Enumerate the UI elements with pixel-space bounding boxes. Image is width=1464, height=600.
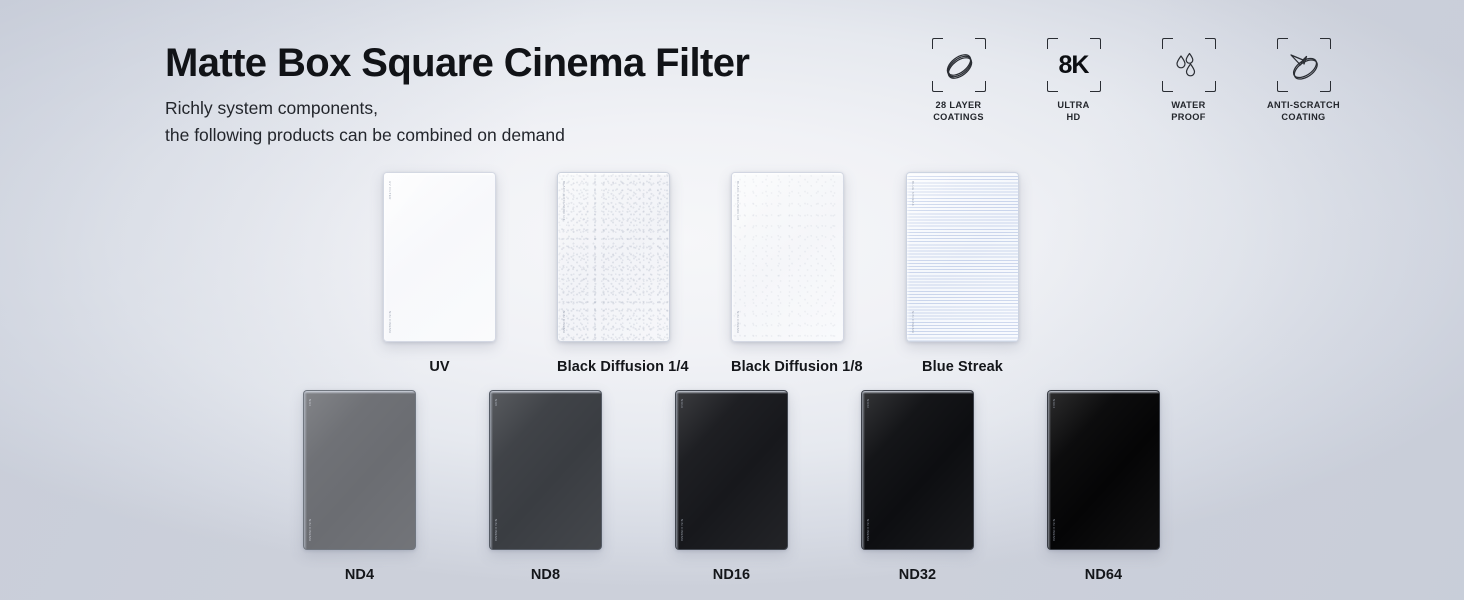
filter-label-nd16: ND16 (675, 567, 788, 583)
corner-bracket-top-right (1320, 38, 1331, 49)
badge-frame: 8K (1047, 38, 1101, 92)
filter-glass-nd4[interactable]: ND4 NiSi CINEMA (303, 390, 416, 550)
label-line-2: PROOF (1171, 112, 1205, 122)
corner-bracket-top-left (1277, 38, 1288, 49)
filter-edge-text-top: UV FILTER (388, 181, 392, 200)
filter-edge-text-bottom: NiSi CINEMA (388, 311, 392, 333)
corner-bracket-bottom-left (1277, 81, 1288, 92)
filter-glass-blue-streak[interactable]: BLUE STREAK NiSi CINEMA (906, 172, 1019, 342)
glass-sheen (490, 391, 601, 549)
clear-filter-row: UV FILTER NiSi CINEMA UV BLACK DIFFUSION… (0, 172, 1464, 372)
filter-glass-nd64[interactable]: ND64 NiSi CINEMA (1047, 390, 1160, 550)
nd-filter-row: ND4 NiSi CINEMA ND4 ND8 NiSi CINEMA ND8 … (0, 390, 1464, 590)
8k-text-icon: 8K (1059, 51, 1089, 80)
filter-edge-text-bottom: NiSi CINEMA (308, 519, 312, 541)
filter-edge-text-top: BLUE STREAK (911, 181, 915, 206)
feature-badge-anti-scratch-coating: ANTI-SCRATCH COATING (1261, 38, 1346, 123)
filter-label-black-diffusion-1-4: Black Diffusion 1/4 (557, 359, 670, 375)
filter-edge-text-bottom: NiSi CINEMA (562, 311, 566, 333)
filter-glass-uv[interactable]: UV FILTER NiSi CINEMA (383, 172, 496, 342)
corner-bracket-bottom-left (932, 81, 943, 92)
corner-bracket-bottom-right (1320, 81, 1331, 92)
glass-top-bevel (558, 173, 669, 176)
glass-top-bevel (907, 173, 1018, 176)
corner-bracket-bottom-left (1162, 81, 1173, 92)
banner-background: Matte Box Square Cinema Filter Richly sy… (0, 0, 1464, 600)
corner-bracket-bottom-right (1205, 81, 1216, 92)
badge-frame (932, 38, 986, 92)
feature-badge-list: 28 LAYER COATINGS 8K ULTRA HD (916, 38, 1346, 123)
glass-top-bevel (676, 391, 787, 394)
filter-card-nd8[interactable]: ND8 NiSi CINEMA ND8 (489, 390, 602, 550)
filter-edge-text-top: ND32 (866, 399, 870, 408)
filter-glass-nd32[interactable]: ND32 NiSi CINEMA (861, 390, 974, 550)
corner-bracket-top-left (1162, 38, 1173, 49)
label-line-2: COATING (1281, 112, 1325, 122)
glass-sheen (304, 391, 415, 549)
glass-left-bevel (732, 173, 735, 341)
corner-bracket-bottom-left (1047, 81, 1058, 92)
glass-sheen (384, 173, 495, 341)
diffusion-texture (732, 173, 843, 341)
filter-card-nd32[interactable]: ND32 NiSi CINEMA ND32 (861, 390, 974, 550)
glass-left-bevel (862, 391, 865, 549)
water-droplets-icon (1170, 46, 1208, 84)
corner-bracket-top-right (1090, 38, 1101, 49)
filter-label-nd4: ND4 (303, 567, 416, 583)
label-line-1: ANTI-SCRATCH (1267, 100, 1340, 110)
corner-bracket-bottom-right (975, 81, 986, 92)
glass-left-bevel (384, 173, 387, 341)
subtitle-line-1: Richly system components, (165, 95, 749, 122)
filter-edge-text-bottom: NiSi CINEMA (680, 519, 684, 541)
filter-edge-text-top: BLACK DIFFUSION 1/4 (562, 181, 566, 221)
filter-glass-nd16[interactable]: ND16 NiSi CINEMA (675, 390, 788, 550)
corner-bracket-top-right (1205, 38, 1216, 49)
subtitle-block: Richly system components, the following … (165, 95, 749, 148)
corner-bracket-top-right (975, 38, 986, 49)
badge-frame (1277, 38, 1331, 92)
glass-top-bevel (1048, 391, 1159, 394)
feature-badge-water-proof: WATER PROOF (1146, 38, 1231, 123)
filter-edge-text-bottom: NiSi CINEMA (736, 311, 740, 333)
glass-sheen (1048, 391, 1159, 549)
filter-edge-text-top: BLACK DIFFUSION 1/8 (736, 181, 740, 221)
glass-left-bevel (304, 391, 307, 549)
feature-badge-label: WATER PROOF (1171, 99, 1205, 123)
feature-badge-label: ULTRA HD (1057, 99, 1089, 123)
glass-left-bevel (676, 391, 679, 549)
filter-label-nd8: ND8 (489, 567, 602, 583)
glass-left-bevel (490, 391, 493, 549)
glass-left-bevel (1048, 391, 1051, 549)
filter-label-black-diffusion-1-8: Black Diffusion 1/8 (731, 359, 844, 375)
filter-label-uv: UV (383, 359, 496, 375)
glass-top-bevel (490, 391, 601, 394)
filter-card-black-diffusion-1-4[interactable]: BLACK DIFFUSION 1/4 NiSi CINEMA Black Di… (557, 172, 670, 342)
feature-badge-28-layer-coatings: 28 LAYER COATINGS (916, 38, 1001, 123)
glass-top-bevel (862, 391, 973, 394)
label-line-1: WATER (1171, 100, 1205, 110)
glass-top-bevel (384, 173, 495, 176)
filter-glass-black-diffusion-1-4[interactable]: BLACK DIFFUSION 1/4 NiSi CINEMA (557, 172, 670, 342)
filter-edge-text-bottom: NiSi CINEMA (494, 519, 498, 541)
diffusion-texture (558, 173, 669, 341)
label-line-1: ULTRA (1057, 100, 1089, 110)
filter-card-nd16[interactable]: ND16 NiSi CINEMA ND16 (675, 390, 788, 550)
feature-badge-ultra-hd: 8K ULTRA HD (1031, 38, 1116, 123)
lens-coating-rings-icon (939, 45, 979, 85)
filter-card-black-diffusion-1-8[interactable]: BLACK DIFFUSION 1/8 NiSi CINEMA Black Di… (731, 172, 844, 342)
badge-frame (1162, 38, 1216, 92)
filter-edge-text-top: ND64 (1052, 399, 1056, 408)
filter-edge-text-top: ND4 (308, 399, 312, 406)
filter-card-uv[interactable]: UV FILTER NiSi CINEMA UV (383, 172, 496, 342)
filter-card-nd64[interactable]: ND64 NiSi CINEMA ND64 (1047, 390, 1160, 550)
filter-label-nd64: ND64 (1047, 567, 1160, 583)
filter-card-blue-streak[interactable]: BLUE STREAK NiSi CINEMA Blue Streak (906, 172, 1019, 342)
glass-sheen (862, 391, 973, 549)
filter-glass-nd8[interactable]: ND8 NiSi CINEMA (489, 390, 602, 550)
filter-label-blue-streak: Blue Streak (906, 359, 1019, 375)
glass-left-bevel (558, 173, 561, 341)
streak-lines-texture (907, 173, 1018, 341)
glass-top-bevel (732, 173, 843, 176)
header-block: Matte Box Square Cinema Filter Richly sy… (165, 42, 749, 148)
filter-glass-black-diffusion-1-8[interactable]: BLACK DIFFUSION 1/8 NiSi CINEMA (731, 172, 844, 342)
feature-badge-label: 28 LAYER COATINGS (933, 99, 984, 123)
page-title: Matte Box Square Cinema Filter (165, 42, 749, 85)
subtitle-line-2: the following products can be combined o… (165, 122, 749, 149)
filter-edge-text-bottom: NiSi CINEMA (911, 311, 915, 333)
label-line-2: HD (1067, 112, 1081, 122)
filter-edge-text-top: ND16 (680, 399, 684, 408)
filter-edge-text-bottom: NiSi CINEMA (866, 519, 870, 541)
glass-left-bevel (907, 173, 910, 341)
glass-sheen (676, 391, 787, 549)
corner-bracket-bottom-right (1090, 81, 1101, 92)
filter-edge-text-bottom: NiSi CINEMA (1052, 519, 1056, 541)
corner-bracket-top-left (1047, 38, 1058, 49)
filter-card-nd4[interactable]: ND4 NiSi CINEMA ND4 (303, 390, 416, 550)
label-line-2: COATINGS (933, 112, 984, 122)
feature-badge-label: ANTI-SCRATCH COATING (1267, 99, 1340, 123)
corner-bracket-top-left (932, 38, 943, 49)
filter-label-nd32: ND32 (861, 567, 974, 583)
anti-scratch-blade-lens-icon (1283, 44, 1325, 86)
filter-edge-text-top: ND8 (494, 399, 498, 406)
label-line-1: 28 LAYER (936, 100, 982, 110)
glass-top-bevel (304, 391, 415, 394)
